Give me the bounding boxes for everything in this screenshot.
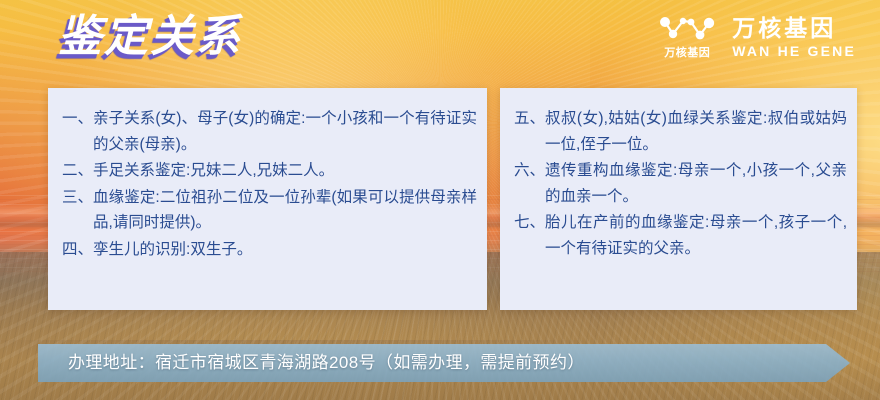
relationship-list-panel-right: 五、 叔叔(女),姑姑(女)血绿关系鉴定:叔伯或姑妈一位,侄子一位。 六、 遗传… xyxy=(500,88,857,310)
list-item-number: 四、 xyxy=(62,237,93,263)
list-item-number: 六、 xyxy=(514,158,545,209)
address-ribbon: 办理地址：宿迁市宿城区青海湖路208号（如需办理，需提前预约） xyxy=(38,344,850,382)
brand-logo: 万核基因 xyxy=(658,14,716,59)
relationship-list-right: 五、 叔叔(女),姑姑(女)血绿关系鉴定:叔伯或姑妈一位,侄子一位。 六、 遗传… xyxy=(514,106,847,261)
list-item-number: 七、 xyxy=(514,210,545,261)
list-item-text: 亲子关系(女)、母子(女)的确定:一个小孩和一个有待证实的父亲(母亲)。 xyxy=(93,106,477,157)
list-item-text: 叔叔(女),姑姑(女)血绿关系鉴定:叔伯或姑妈一位,侄子一位。 xyxy=(545,106,847,157)
list-item: 二、 手足关系鉴定:兄妹二人,兄妹二人。 xyxy=(62,158,477,184)
brand-name-cn: 万核基因 xyxy=(732,15,856,41)
list-item: 五、 叔叔(女),姑姑(女)血绿关系鉴定:叔伯或姑妈一位,侄子一位。 xyxy=(514,106,847,157)
brand-lockup: 万核基因 万核基因 WAN HE GENE xyxy=(658,14,856,59)
list-item-number: 一、 xyxy=(62,106,93,157)
header-bar: 鉴定关系 xyxy=(0,0,880,80)
list-item: 六、 遗传重构血缘鉴定:母亲一个,小孩一个,父亲的血亲一个。 xyxy=(514,158,847,209)
list-item-text: 孪生儿的识别:双生子。 xyxy=(93,237,477,263)
relationship-list-panel-left: 一、 亲子关系(女)、母子(女)的确定:一个小孩和一个有待证实的父亲(母亲)。 … xyxy=(48,88,487,310)
list-item-number: 二、 xyxy=(62,158,93,184)
list-item-text: 遗传重构血缘鉴定:母亲一个,小孩一个,父亲的血亲一个。 xyxy=(545,158,847,209)
brand-name-en: WAN HE GENE xyxy=(732,43,856,59)
molecule-network-icon xyxy=(658,14,716,44)
list-item: 三、 血缘鉴定:二位祖孙二位及一位孙辈(如果可以提供母亲样品,请同时提供)。 xyxy=(62,185,477,236)
relationship-list-left: 一、 亲子关系(女)、母子(女)的确定:一个小孩和一个有待证实的父亲(母亲)。 … xyxy=(62,106,477,262)
list-item-number: 三、 xyxy=(62,185,93,236)
brand-logo-caption: 万核基因 xyxy=(664,47,710,59)
list-item-text: 胎儿在产前的血缘鉴定:母亲一个,孩子一个,一个有待证实的父亲。 xyxy=(545,210,847,261)
list-item-text: 手足关系鉴定:兄妹二人,兄妹二人。 xyxy=(93,158,477,184)
list-item-number: 五、 xyxy=(514,106,545,157)
brand-name-block: 万核基因 WAN HE GENE xyxy=(732,15,856,59)
list-item: 一、 亲子关系(女)、母子(女)的确定:一个小孩和一个有待证实的父亲(母亲)。 xyxy=(62,106,477,157)
list-item: 七、 胎儿在产前的血缘鉴定:母亲一个,孩子一个,一个有待证实的父亲。 xyxy=(514,210,847,261)
page-title: 鉴定关系 xyxy=(58,8,242,66)
address-text: 办理地址：宿迁市宿城区青海湖路208号（如需办理，需提前预约） xyxy=(68,344,585,382)
poster-canvas: 鉴定关系 xyxy=(0,0,880,400)
list-item: 四、 孪生儿的识别:双生子。 xyxy=(62,237,477,263)
list-item-text: 血缘鉴定:二位祖孙二位及一位孙辈(如果可以提供母亲样品,请同时提供)。 xyxy=(93,185,477,236)
